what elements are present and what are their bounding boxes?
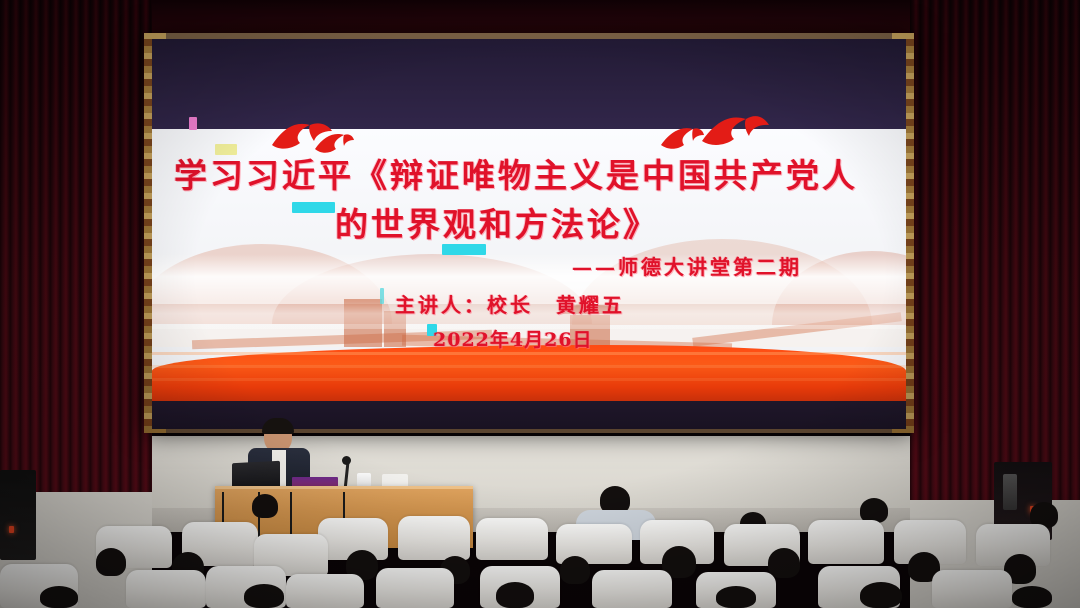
chair xyxy=(592,570,672,608)
chair xyxy=(932,570,1012,608)
attendee-head xyxy=(244,584,284,608)
screen-bezel-top xyxy=(152,39,906,129)
led-screen: 学习习近平《辩证唯物主义是中国共产党人 的世界观和方法论》 ——师德大讲堂第二期… xyxy=(152,39,906,429)
ribbon-highlight xyxy=(152,352,906,355)
chair xyxy=(376,568,454,608)
ribbon-highlight xyxy=(152,378,906,381)
chair xyxy=(808,520,884,564)
attendee-head xyxy=(96,548,126,576)
marker-chip-pink xyxy=(189,117,197,130)
attendee-head xyxy=(768,548,800,578)
slide-series-label: ——师德大讲堂第二期 xyxy=(572,251,802,280)
microphone-head-icon xyxy=(342,456,351,465)
attendee-head xyxy=(1012,586,1052,608)
slide-speaker-line: 主讲人：校长 黄耀五 xyxy=(395,289,625,318)
presenter-hair xyxy=(262,418,294,434)
attendee-head xyxy=(40,586,78,608)
attendee-head xyxy=(716,586,756,608)
dove-icon xyxy=(700,111,770,151)
audience-area xyxy=(0,490,1080,608)
orange-ribbon xyxy=(152,345,906,401)
attendee-head xyxy=(560,556,590,584)
slide-date-line: 2022年4月26日 xyxy=(433,325,593,352)
chair xyxy=(476,518,548,560)
attendee-head xyxy=(496,582,534,608)
slide-title-line1: 学习习近平《辩证唯物主义是中国共产党人 xyxy=(174,149,858,197)
ribbon-highlight xyxy=(152,365,906,368)
marker-chip-cyan xyxy=(292,202,335,213)
projection-screen-frame: 学习习近平《辩证唯物主义是中国共产党人 的世界观和方法论》 ——师德大讲堂第二期… xyxy=(144,33,914,433)
attendee-head xyxy=(252,494,278,518)
attendee-head xyxy=(860,582,902,608)
slide-title-line2: 的世界观和方法论》 xyxy=(335,198,659,246)
marker-chip-cyan xyxy=(380,288,384,304)
chair xyxy=(286,574,364,608)
auditorium-photo: 学习习近平《辩证唯物主义是中国共产党人 的世界观和方法论》 ——师德大讲堂第二期… xyxy=(0,0,1080,608)
chair xyxy=(398,516,470,560)
chair xyxy=(126,570,206,608)
